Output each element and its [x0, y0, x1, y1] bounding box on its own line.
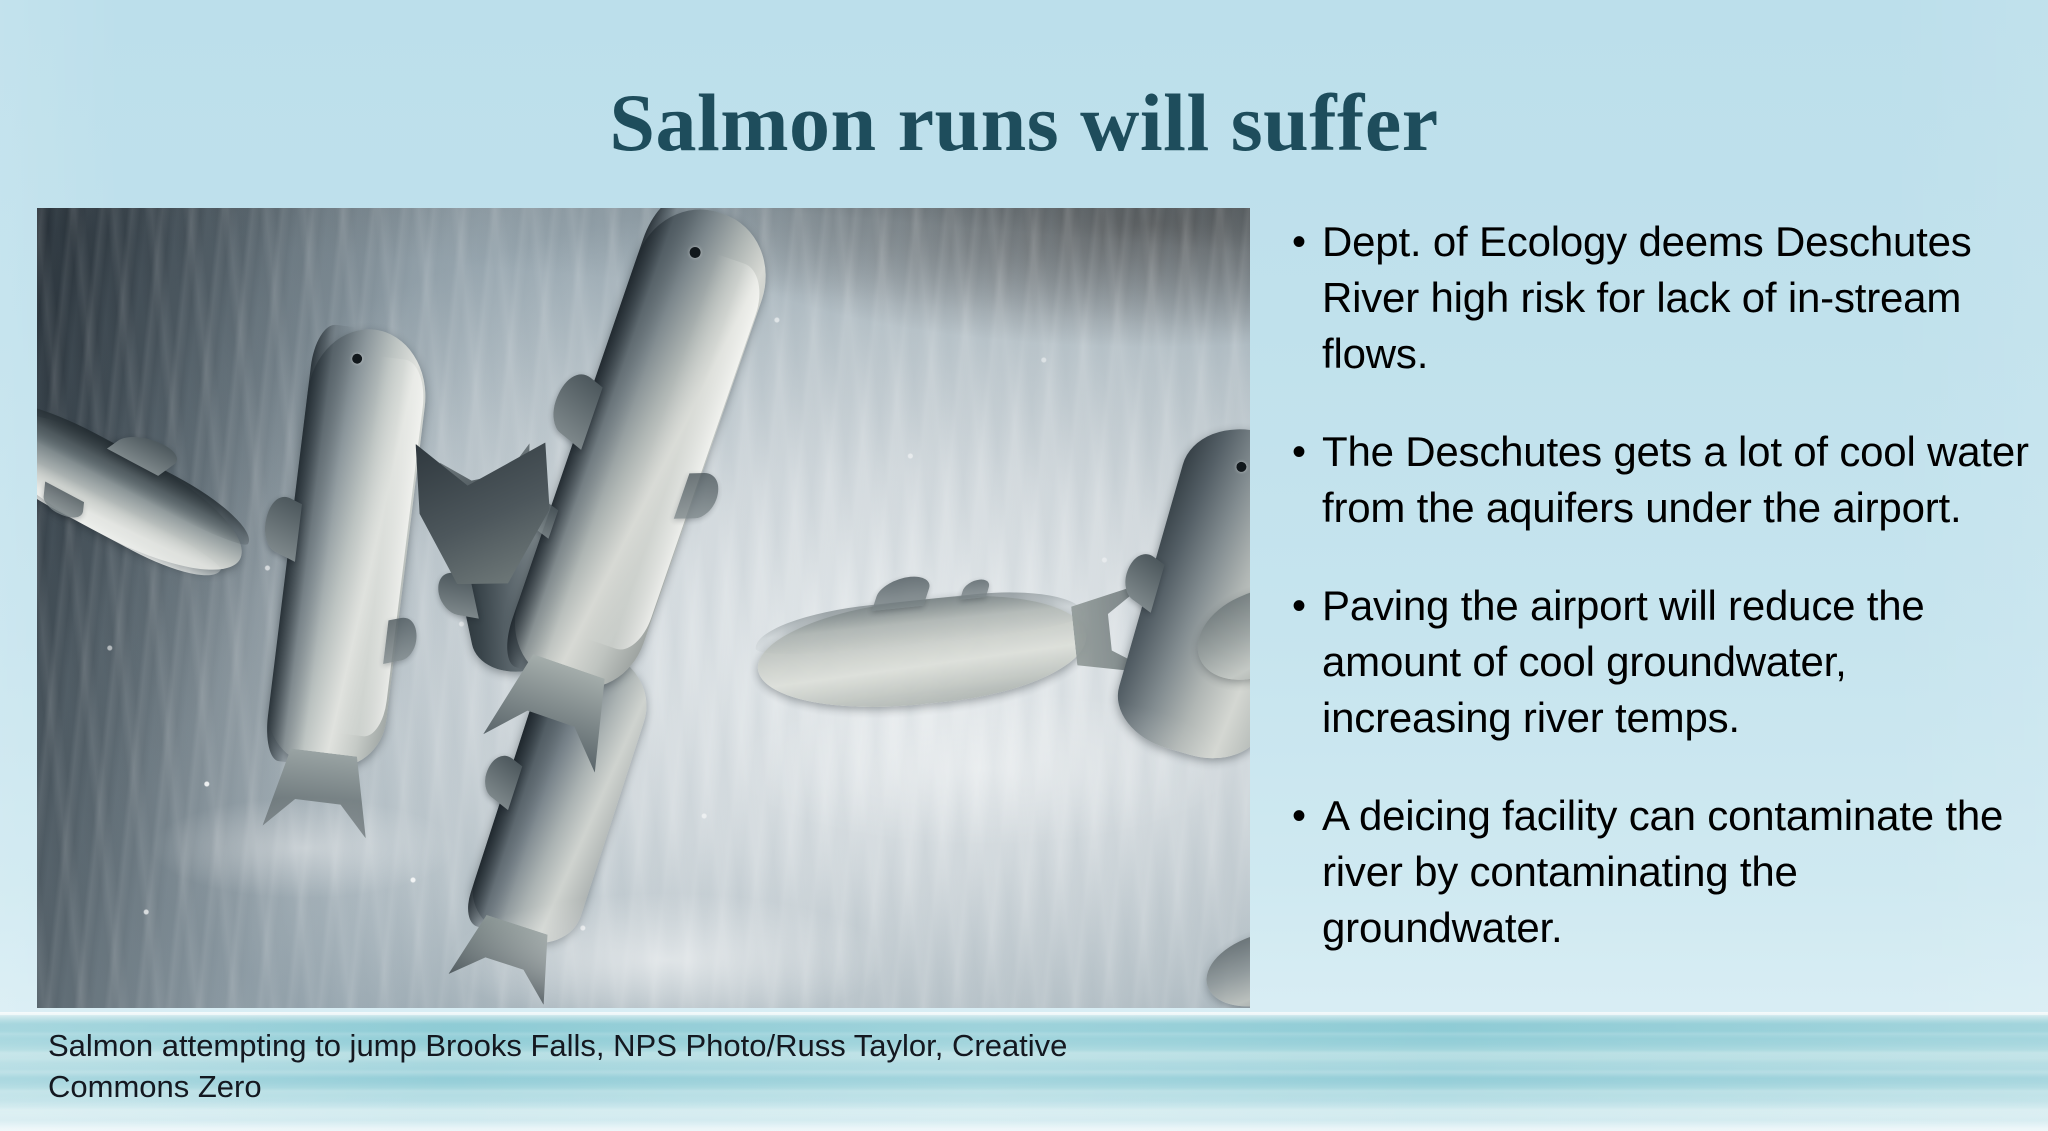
- list-item: • Dept. of Ecology deems Deschutes River…: [1278, 214, 2038, 382]
- bullet-text: Dept. of Ecology deems Deschutes River h…: [1322, 214, 2038, 382]
- list-item: • The Deschutes gets a lot of cool water…: [1278, 424, 2038, 536]
- bullet-text: A deicing facility can contaminate the r…: [1322, 788, 2038, 956]
- presentation-slide: Salmon runs will suffer: [0, 0, 2048, 1131]
- bullet-marker-icon: •: [1278, 214, 1322, 270]
- bullet-text: Paving the airport will reduce the amoun…: [1322, 578, 2038, 746]
- bullet-marker-icon: •: [1278, 788, 1322, 844]
- photo-splash-highlights: [37, 208, 1250, 1008]
- salmon-photo: [37, 208, 1250, 1008]
- list-item: • A deicing facility can contaminate the…: [1278, 788, 2038, 956]
- page-title: Salmon runs will suffer: [0, 82, 2048, 164]
- bullet-text: The Deschutes gets a lot of cool water f…: [1322, 424, 2038, 536]
- bullet-list: • Dept. of Ecology deems Deschutes River…: [1278, 214, 2038, 956]
- photo-caption: Salmon attempting to jump Brooks Falls, …: [48, 1025, 1208, 1107]
- bullet-marker-icon: •: [1278, 578, 1322, 634]
- list-item: • Paving the airport will reduce the amo…: [1278, 578, 2038, 746]
- bullet-marker-icon: •: [1278, 424, 1322, 480]
